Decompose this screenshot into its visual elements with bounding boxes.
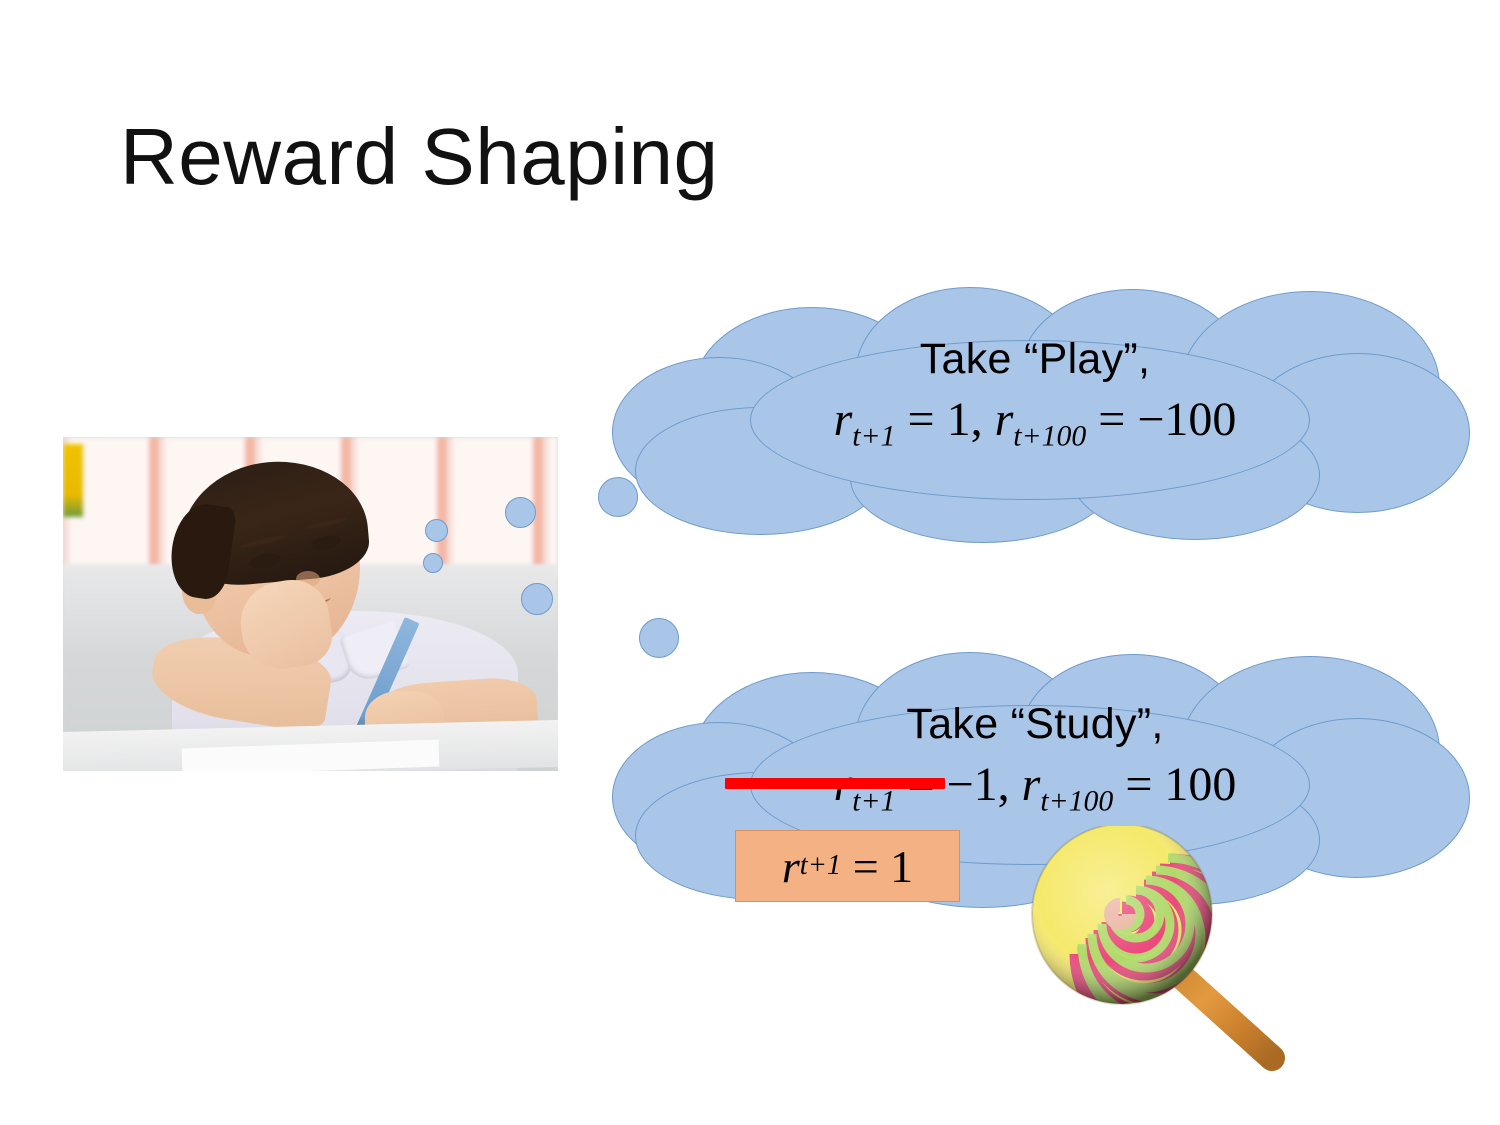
equation-part: = −100 — [1086, 393, 1236, 446]
page-title: Reward Shaping — [120, 117, 718, 197]
equation-part: = 100 — [1113, 758, 1236, 811]
thought-bubble-play: Take “Play”, rt+1 = 1, rt+100 = −100 — [600, 285, 1470, 510]
thought-dot-small-2 — [423, 553, 443, 573]
callout-subscript: t+1 — [800, 850, 841, 882]
equation-part: = 1, — [896, 393, 995, 446]
thought-dot-small-3 — [505, 497, 536, 528]
bubble-play-equation: rt+1 = 1, rt+100 = −100 — [834, 392, 1237, 454]
equation-part: r — [1022, 758, 1041, 811]
equation-part: r — [834, 393, 853, 446]
callout-value: = 1 — [841, 840, 913, 893]
strikethrough-bar — [725, 778, 945, 789]
bubble-play-line1: Take “Play”, — [600, 335, 1470, 384]
equation-subscript: t+100 — [1013, 420, 1086, 453]
thought-dot-small-4 — [521, 583, 553, 615]
equation-part: r — [995, 393, 1014, 446]
photo-background-object — [63, 444, 83, 517]
equation-subscript: t+1 — [852, 785, 895, 818]
thought-dot-small-1 — [425, 519, 448, 542]
lollipop-stick — [1170, 966, 1272, 1058]
bubble-study-line1: Take “Study”, — [600, 700, 1470, 749]
thinking-boy-photo — [63, 437, 558, 771]
equation-subscript: t+1 — [852, 420, 895, 453]
equation-subscript: t+100 — [1040, 785, 1113, 818]
lollipop-icon — [1030, 826, 1290, 1076]
slide-canvas: Reward Shaping — [0, 0, 1500, 1125]
reward-callout-box: rt+1 = 1 — [735, 830, 960, 902]
callout-symbol: r — [782, 840, 800, 893]
